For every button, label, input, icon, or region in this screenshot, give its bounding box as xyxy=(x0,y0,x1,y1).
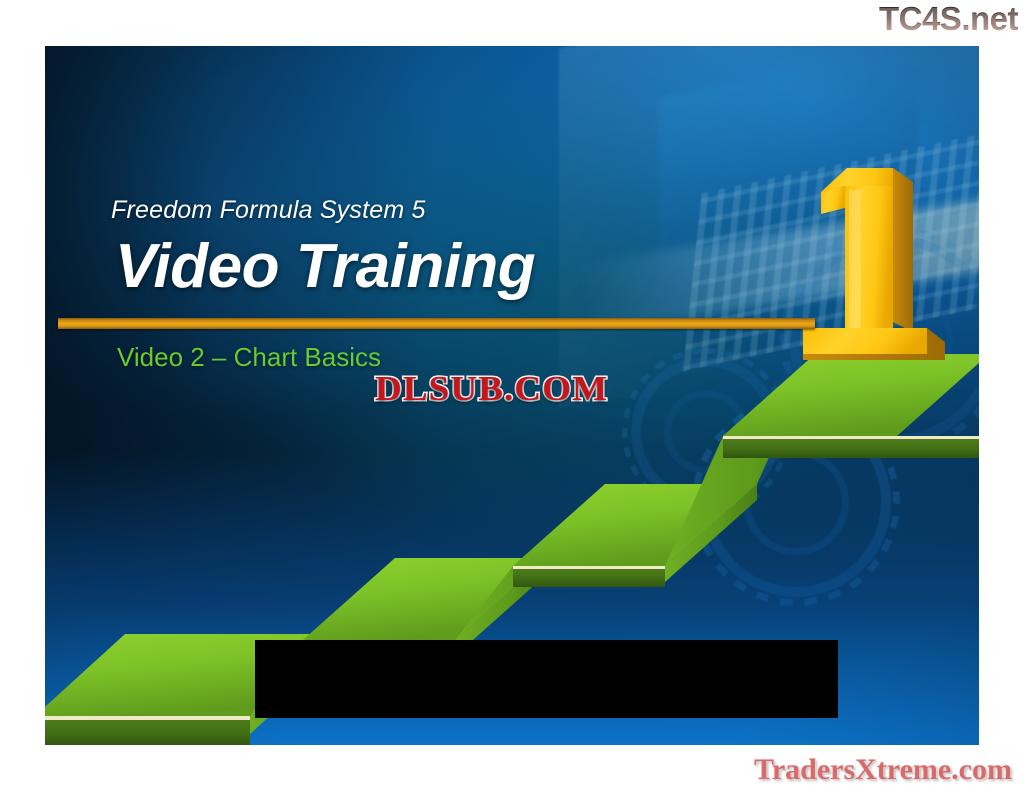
golden-numeral-one-icon xyxy=(785,146,955,381)
site-brand-watermark-top: TC4S.net xyxy=(879,2,1018,35)
black-redaction-bar xyxy=(255,640,838,718)
presentation-slide: Freedom Formula System 5 Video Training … xyxy=(45,46,979,745)
title-divider-rule xyxy=(58,318,815,329)
slide-subtitle-text: Video 2 – Chart Basics xyxy=(117,342,381,373)
site-brand-watermark-bottom: TradersXtreme.com xyxy=(754,755,1012,785)
page-title: Video Training xyxy=(115,231,535,302)
slide-eyebrow-text: Freedom Formula System 5 xyxy=(111,196,426,225)
dlsub-watermark: DLSUB.COM xyxy=(375,371,608,406)
